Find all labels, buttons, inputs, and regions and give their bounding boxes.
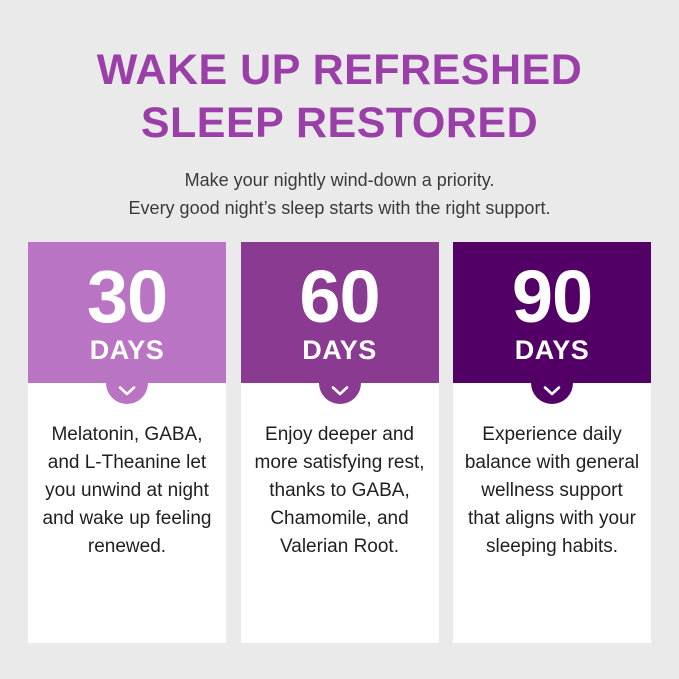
chevron-down-icon xyxy=(118,385,136,397)
card-header-30-days: 30 DAYS xyxy=(28,242,226,383)
card-header-90-days: 90 DAYS xyxy=(453,242,651,383)
page-subtitle-line-2: Every good night’s sleep starts with the… xyxy=(0,194,679,222)
duration-card-60-days: 60 DAYS Enjoy deeper and more satisfying… xyxy=(241,242,439,643)
card-body-90-days: Experience daily balance with general we… xyxy=(453,383,651,643)
card-unit-label-90: DAYS xyxy=(515,335,590,365)
infographic-page: WAKE UP REFRESHED SLEEP RESTORED Make yo… xyxy=(0,0,679,679)
card-number-30: 30 xyxy=(87,261,167,333)
card-description-30: Melatonin, GABA, and L-Theanine let you … xyxy=(38,421,216,561)
card-header-60-days: 60 DAYS xyxy=(241,242,439,383)
card-description-90: Experience daily balance with general we… xyxy=(463,421,641,561)
card-body-60-days: Enjoy deeper and more satisfying rest, t… xyxy=(241,383,439,643)
page-title: WAKE UP REFRESHED SLEEP RESTORED xyxy=(0,44,679,150)
card-description-60: Enjoy deeper and more satisfying rest, t… xyxy=(251,421,429,561)
page-title-line-2: SLEEP RESTORED xyxy=(0,97,679,150)
card-number-90: 90 xyxy=(512,261,592,333)
duration-card-90-days: 90 DAYS Experience daily balance with ge… xyxy=(453,242,651,643)
card-unit-label-30: DAYS xyxy=(90,335,165,365)
card-unit-label-60: DAYS xyxy=(302,335,377,365)
page-subtitle-line-1: Make your nightly wind-down a priority. xyxy=(0,166,679,194)
page-title-line-1: WAKE UP REFRESHED xyxy=(0,44,679,97)
card-number-60: 60 xyxy=(299,261,379,333)
chevron-down-icon xyxy=(331,385,349,397)
duration-card-30-days: 30 DAYS Melatonin, GABA, and L-Theanine … xyxy=(28,242,226,643)
chevron-down-icon xyxy=(543,385,561,397)
page-subtitle: Make your nightly wind-down a priority. … xyxy=(0,166,679,222)
duration-card-row: 30 DAYS Melatonin, GABA, and L-Theanine … xyxy=(28,242,651,643)
card-body-30-days: Melatonin, GABA, and L-Theanine let you … xyxy=(28,383,226,643)
